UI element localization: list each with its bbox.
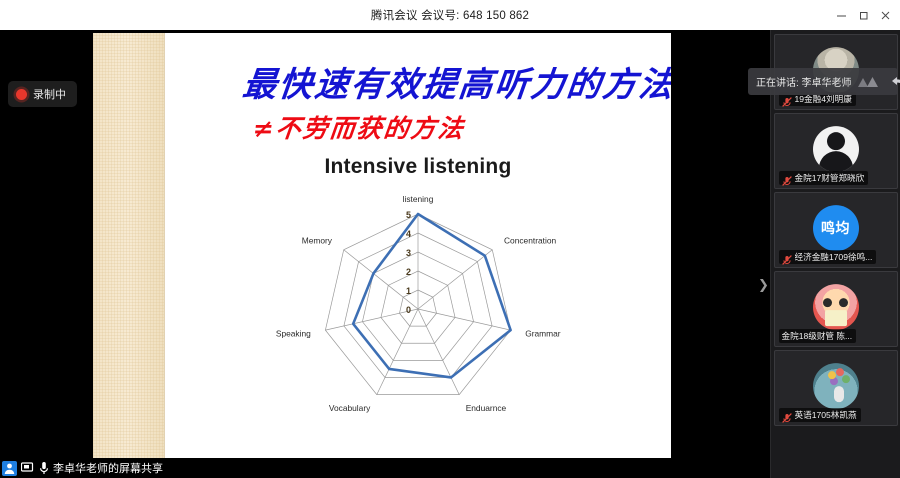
svg-text:3: 3 bbox=[406, 248, 411, 258]
radar-chart: 012345 listeningConcentrationGrammarEndu… bbox=[253, 191, 583, 449]
svg-text:2: 2 bbox=[406, 267, 411, 277]
meeting-window: 腾讯会议 会议号: 648 150 862 最快速有效提高听力的方法 ≠不劳而获… bbox=[0, 0, 900, 478]
window-controls bbox=[830, 0, 896, 30]
svg-text:Memory: Memory bbox=[302, 235, 333, 245]
status-bar-text: 李卓华老师的屏幕共享 bbox=[53, 460, 163, 476]
participant-name-chip: 经济金融1709徐鸣... bbox=[779, 250, 877, 264]
avatar bbox=[813, 363, 859, 409]
presentation-slide: 最快速有效提高听力的方法 ≠不劳而获的方法 Intensive listenin… bbox=[93, 33, 671, 468]
participant-name: 金院18级财管 陈... bbox=[782, 330, 853, 342]
participant-tile[interactable]: 英语1705林凯燕 bbox=[774, 350, 898, 426]
svg-text:listening: listening bbox=[403, 194, 434, 204]
radar-chart-svg: 012345 listeningConcentrationGrammarEndu… bbox=[253, 191, 583, 449]
participant-name-chip: 金院17财管郑晓欣 bbox=[779, 171, 869, 185]
svg-text:Enduarnce: Enduarnce bbox=[466, 403, 507, 413]
svg-text:0: 0 bbox=[406, 305, 411, 315]
screen-share-icon bbox=[21, 462, 35, 475]
microphone-muted-icon bbox=[782, 94, 792, 104]
svg-text:5: 5 bbox=[406, 210, 411, 220]
svg-text:Concentration: Concentration bbox=[504, 235, 556, 245]
microphone-icon bbox=[39, 461, 49, 475]
participant-name-chip: 英语1705林凯燕 bbox=[779, 408, 861, 422]
participant-tile[interactable]: 金院18级财管 陈... bbox=[774, 271, 898, 347]
participant-sidebar[interactable]: 19金融4刘明康金院17财管郑晓欣鸣均经济金融1709徐鸣...金院18级财管 … bbox=[770, 30, 900, 478]
radar-spokes bbox=[325, 214, 510, 395]
svg-text:Speaking: Speaking bbox=[276, 329, 311, 339]
avatar: 鸣均 bbox=[813, 205, 859, 251]
participant-name-chip: 金院18级财管 陈... bbox=[779, 329, 857, 343]
microphone-muted-icon bbox=[782, 410, 792, 420]
radar-series-polygon bbox=[353, 214, 510, 377]
person-icon bbox=[2, 461, 17, 476]
participant-tile[interactable]: 鸣均经济金融1709徐鸣... bbox=[774, 192, 898, 268]
back-arrow-icon[interactable] bbox=[891, 75, 900, 88]
svg-text:Vocabulary: Vocabulary bbox=[329, 403, 371, 413]
svg-text:Grammar: Grammar bbox=[525, 329, 561, 339]
minimize-button[interactable] bbox=[830, 0, 852, 30]
avatar bbox=[813, 284, 859, 330]
window-title: 腾讯会议 会议号: 648 150 862 bbox=[371, 7, 529, 23]
slide-decorative-strip bbox=[93, 33, 165, 468]
active-speaker-banner: 正在讲话: 李卓华老师 bbox=[748, 68, 898, 95]
volume-wave-icon[interactable] bbox=[857, 75, 879, 88]
maximize-button[interactable] bbox=[852, 0, 874, 30]
recording-badge: 录制中 bbox=[8, 81, 77, 107]
close-button[interactable] bbox=[874, 0, 896, 30]
slide-content: 最快速有效提高听力的方法 ≠不劳而获的方法 Intensive listenin… bbox=[165, 33, 671, 468]
participant-name: 英语1705林凯燕 bbox=[795, 409, 857, 421]
avatar-initials: 鸣均 bbox=[821, 218, 850, 238]
participant-name: 经济金融1709徐鸣... bbox=[795, 251, 873, 263]
recording-label: 录制中 bbox=[33, 86, 66, 102]
avatar bbox=[813, 126, 859, 172]
recording-dot-icon bbox=[16, 89, 27, 100]
shared-screen-stage: 最快速有效提高听力的方法 ≠不劳而获的方法 Intensive listenin… bbox=[0, 30, 770, 478]
status-bar: 李卓华老师的屏幕共享 bbox=[0, 458, 770, 478]
svg-text:1: 1 bbox=[406, 286, 411, 296]
slide-heading-primary: 最快速有效提高听力的方法 bbox=[240, 57, 671, 106]
chevron-right-icon[interactable]: ❯ bbox=[757, 272, 770, 296]
microphone-muted-icon bbox=[782, 252, 792, 262]
participant-name: 金院17财管郑晓欣 bbox=[795, 172, 865, 184]
title-bar: 腾讯会议 会议号: 648 150 862 bbox=[0, 0, 900, 30]
svg-text:4: 4 bbox=[406, 229, 411, 239]
microphone-muted-icon bbox=[782, 173, 792, 183]
slide-heading-secondary: ≠不劳而获的方法 bbox=[251, 109, 467, 145]
chart-title: Intensive listening bbox=[165, 155, 671, 179]
participant-tile[interactable]: 金院17财管郑晓欣 bbox=[774, 113, 898, 189]
active-speaker-label: 正在讲话: 李卓华老师 bbox=[756, 74, 852, 89]
